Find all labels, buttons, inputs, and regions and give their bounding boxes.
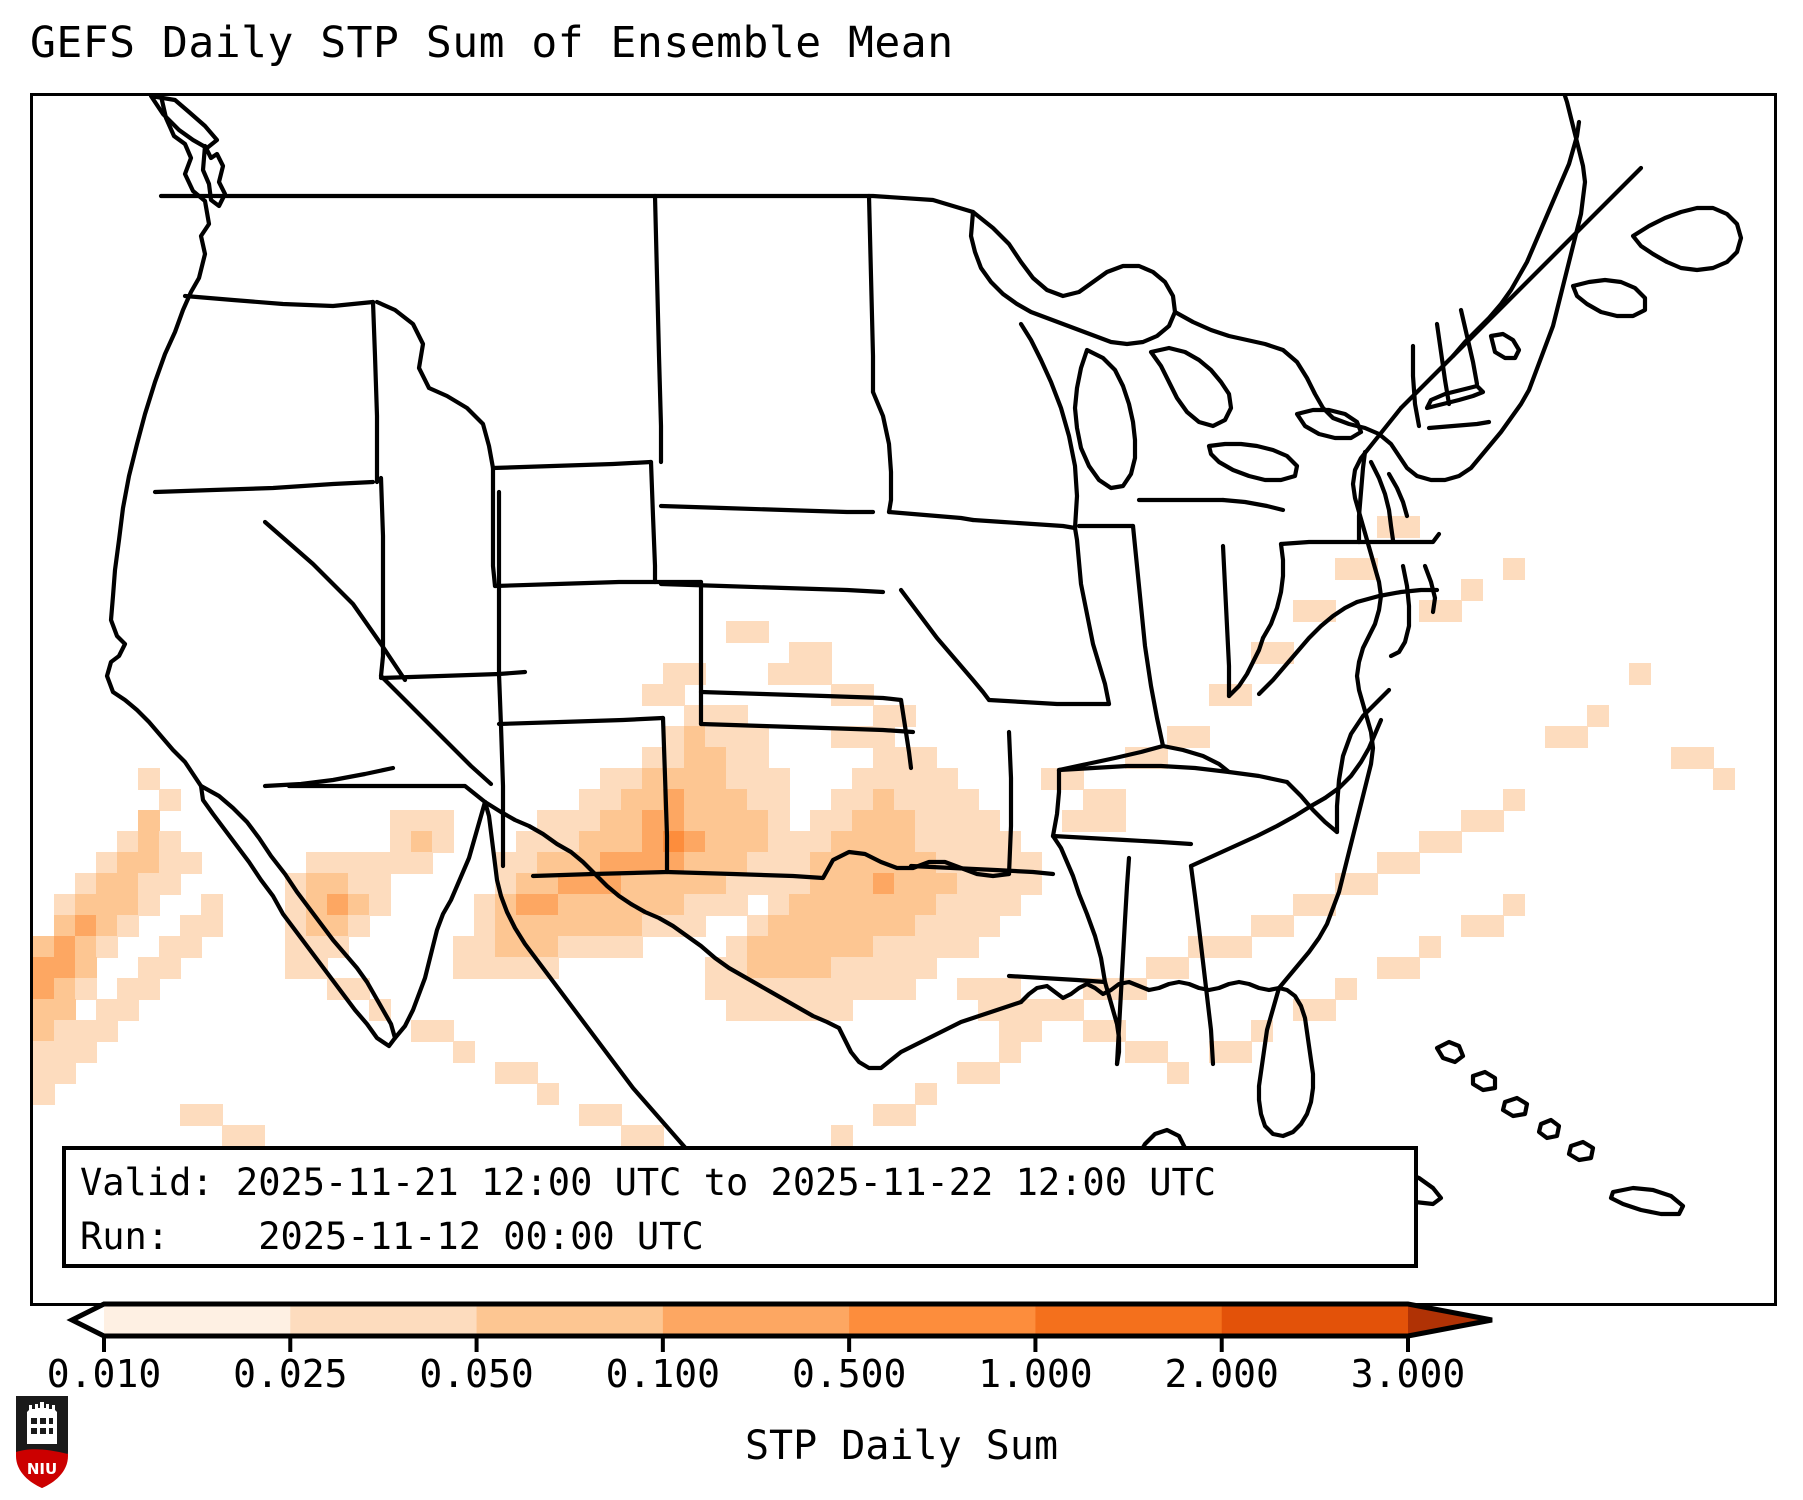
colorbar-segment [663,1304,850,1336]
heatmap-cell [789,978,811,1000]
heatmap-cell [579,936,601,958]
heatmap-cell [495,915,517,937]
heatmap-cell [495,894,517,916]
heatmap-cell [54,1041,76,1063]
heatmap-cell [1209,1041,1231,1063]
heatmap-cell [285,894,307,916]
heatmap-cell [936,789,958,811]
heatmap-cell [579,873,601,895]
heatmap-cell [1146,957,1168,979]
heatmap-cell [768,894,790,916]
colorbar-tick-label: 0.010 [47,1352,161,1396]
heatmap-cell [1671,747,1693,769]
heatmap-cell [894,789,916,811]
heatmap-cell [873,978,895,1000]
heatmap-cell [1482,915,1504,937]
heatmap-cell [1020,852,1042,874]
heatmap-cell [1062,999,1084,1021]
heatmap-cell [705,789,727,811]
heatmap-cell [747,726,769,748]
heatmap-cell [852,894,874,916]
heatmap-cell [1440,831,1462,853]
heatmap-cell [663,768,685,790]
heatmap-cell [54,936,76,958]
colorbar-tick-label: 0.025 [233,1352,347,1396]
heatmap-cell [957,936,979,958]
heatmap-cell [936,768,958,790]
heatmap-cell [33,1062,55,1084]
heatmap-cell [810,894,832,916]
heatmap-cell [957,810,979,832]
heatmap-cell [54,999,76,1021]
heatmap-cell [873,705,895,727]
heatmap-cell [768,663,790,685]
heatmap-cell [873,726,895,748]
heatmap-cell [873,957,895,979]
heatmap-cell [432,831,454,853]
heatmap-cell [768,873,790,895]
stp-heatmap-layer [33,96,1774,1303]
heatmap-cell [873,747,895,769]
heatmap-cell [1083,1020,1105,1042]
heatmap-cell [663,810,685,832]
heatmap-cell [705,978,727,1000]
heatmap-cell [621,810,643,832]
heatmap-cell [852,810,874,832]
heatmap-cell [537,873,559,895]
heatmap-cell [978,831,1000,853]
heatmap-cell [558,915,580,937]
heatmap-cell [537,1083,559,1105]
heatmap-cell [831,852,853,874]
heatmap-cell [516,1062,538,1084]
heatmap-cell [453,1041,475,1063]
heatmap-cell [810,915,832,937]
heatmap-cell [684,831,706,853]
heatmap-cell [663,915,685,937]
heatmap-cell [75,915,97,937]
heatmap-cell [873,831,895,853]
heatmap-cell [705,873,727,895]
heatmap-cell [642,768,664,790]
heatmap-cell [180,915,202,937]
heatmap-cell [1062,810,1084,832]
heatmap-cell [978,852,1000,874]
colorbar-segment [1222,1304,1409,1336]
heatmap-cell [306,873,328,895]
heatmap-cell [621,915,643,937]
heatmap-cell [369,999,391,1021]
heatmap-cell [1167,726,1189,748]
heatmap-cell [117,915,139,937]
heatmap-cell [810,852,832,874]
heatmap-cell [117,978,139,1000]
heatmap-cell [537,810,559,832]
heatmap-cell [894,873,916,895]
heatmap-cell [1398,516,1420,538]
heatmap-cell [684,747,706,769]
heatmap-cell [432,810,454,832]
heatmap-cell [33,1041,55,1063]
heatmap-cell [1167,1062,1189,1084]
heatmap-cell [726,705,748,727]
heatmap-cell [75,873,97,895]
colorbar[interactable] [0,1296,1803,1356]
heatmap-cell [810,936,832,958]
heatmap-cell [768,957,790,979]
heatmap-cell [852,684,874,706]
heatmap-cell [159,831,181,853]
heatmap-cell [306,936,328,958]
colorbar-tick-label: 1.000 [978,1352,1092,1396]
heatmap-cell [810,810,832,832]
heatmap-cell [1104,1020,1126,1042]
heatmap-cell [747,621,769,643]
heatmap-cell [579,810,601,832]
heatmap-cell [495,1062,517,1084]
heatmap-cell [642,873,664,895]
heatmap-cell [726,726,748,748]
heatmap-cell [1545,726,1567,748]
heatmap-cell [1314,999,1336,1021]
heatmap-cell [768,999,790,1021]
heatmap-cell [978,1062,1000,1084]
heatmap-cell [915,747,937,769]
heatmap-cell [1188,726,1210,748]
heatmap-cell [1377,516,1399,538]
heatmap-cell [1020,1020,1042,1042]
heatmap-cell [453,957,475,979]
heatmap-cell [600,936,622,958]
heatmap-cell [999,978,1021,1000]
heatmap-cell [75,936,97,958]
heatmap-cell [726,768,748,790]
heatmap-cell [726,789,748,811]
heatmap-cell [852,768,874,790]
heatmap-cell [999,894,1021,916]
heatmap-cell [684,873,706,895]
heatmap-cell [915,768,937,790]
run-time-text: Run: 2025-11-12 00:00 UTC [80,1210,1400,1264]
annotation-box: Valid: 2025-11-21 12:00 UTC to 2025-11-2… [62,1146,1418,1268]
heatmap-cell [789,936,811,958]
heatmap-cell [915,915,937,937]
heatmap-cell [684,810,706,832]
heatmap-cell [348,978,370,1000]
heatmap-cell [600,831,622,853]
heatmap-cell [873,789,895,811]
heatmap-cell [642,684,664,706]
heatmap-cell [663,831,685,853]
heatmap-cell [894,768,916,790]
heatmap-cell [894,936,916,958]
heatmap-cell [621,894,643,916]
heatmap-cell [873,936,895,958]
logo-text: NIU [27,1460,57,1478]
heatmap-cell [159,957,181,979]
heatmap-cell [558,831,580,853]
heatmap-cell [579,789,601,811]
heatmap-cell [1356,558,1378,580]
heatmap-cell [747,789,769,811]
heatmap-cell [768,852,790,874]
heatmap-cell [1041,999,1063,1021]
heatmap-cell [831,873,853,895]
heatmap-cell [1020,873,1042,895]
colorbar-tick-label: 0.050 [419,1352,533,1396]
heatmap-cell [558,873,580,895]
heatmap-cell [789,999,811,1021]
heatmap-cell [747,810,769,832]
heatmap-cell [726,747,748,769]
map-clip [33,96,1774,1303]
heatmap-cell [936,873,958,895]
heatmap-cell [894,1104,916,1126]
heatmap-cell [684,789,706,811]
heatmap-cell [1566,726,1588,748]
heatmap-cell [348,894,370,916]
heatmap-cell [873,915,895,937]
heatmap-cell [159,852,181,874]
heatmap-cell [1293,999,1315,1021]
heatmap-cell [600,873,622,895]
heatmap-cell [96,999,118,1021]
heatmap-cell [75,894,97,916]
heatmap-cell [138,810,160,832]
heatmap-cell [537,936,559,958]
heatmap-cell [789,852,811,874]
heatmap-cell [768,978,790,1000]
heatmap-cell [894,978,916,1000]
heatmap-cell [201,894,223,916]
heatmap-cell [621,1125,643,1147]
heatmap-cell [705,831,727,853]
heatmap-cell [621,936,643,958]
heatmap-cell [705,957,727,979]
heatmap-cell [96,936,118,958]
heatmap-cell [726,957,748,979]
heatmap-cell [33,999,55,1021]
heatmap-cell [768,789,790,811]
heatmap-cell [852,957,874,979]
heatmap-cell [642,1125,664,1147]
heatmap-cell [138,852,160,874]
heatmap-cell [789,957,811,979]
heatmap-cell [537,957,559,979]
colorbar-segment [104,1304,291,1336]
map-panel[interactable] [30,93,1777,1306]
heatmap-cell [75,957,97,979]
heatmap-cell [537,915,559,937]
heatmap-cell [831,1125,853,1147]
heatmap-cell [327,852,349,874]
heatmap-cell [705,894,727,916]
heatmap-cell [516,936,538,958]
heatmap-cell [1629,663,1651,685]
heatmap-cell [873,1104,895,1126]
heatmap-cell [642,810,664,832]
heatmap-cell [1335,558,1357,580]
heatmap-cell [285,873,307,895]
heatmap-cell [831,831,853,853]
heatmap-cell [75,1041,97,1063]
heatmap-cell [222,1125,244,1147]
heatmap-cell [1503,558,1525,580]
heatmap-cell [411,810,433,832]
heatmap-cell [1251,1020,1273,1042]
heatmap-cell [243,1125,265,1147]
heatmap-cell [852,936,874,958]
heatmap-cell [537,852,559,874]
heatmap-cell [1272,642,1294,664]
heatmap-cell [1230,936,1252,958]
heatmap-cell [642,747,664,769]
heatmap-cell [810,663,832,685]
heatmap-cell [1104,789,1126,811]
heatmap-cell [915,831,937,853]
heatmap-cell [894,831,916,853]
heatmap-cell [201,1104,223,1126]
heatmap-cell [285,957,307,979]
heatmap-cell [852,852,874,874]
heatmap-cell [663,663,685,685]
heatmap-cell [705,747,727,769]
heatmap-cell [327,936,349,958]
heatmap-cell [1251,915,1273,937]
colorbar-segment [1035,1304,1222,1336]
heatmap-cell [1587,705,1609,727]
heatmap-cell [894,705,916,727]
heatmap-cell [747,768,769,790]
heatmap-cell [726,621,748,643]
heatmap-cell [579,852,601,874]
heatmap-cell [138,831,160,853]
heatmap-cell [747,873,769,895]
heatmap-cell [1356,873,1378,895]
heatmap-cell [894,747,916,769]
heatmap-cell [474,936,496,958]
heatmap-cell [789,915,811,937]
valid-time-text: Valid: 2025-11-21 12:00 UTC to 2025-11-2… [80,1156,1400,1210]
heatmap-cell [978,999,1000,1021]
heatmap-cell [54,915,76,937]
heatmap-cell [1398,957,1420,979]
heatmap-cell [558,810,580,832]
heatmap-cell [684,768,706,790]
heatmap-cell [1188,936,1210,958]
heatmap-cell [726,810,748,832]
heatmap-cell [138,768,160,790]
heatmap-cell [831,978,853,1000]
heatmap-cell [747,831,769,853]
heatmap-cell [936,831,958,853]
heatmap-cell [1083,810,1105,832]
heatmap-cell [516,894,538,916]
heatmap-cell [684,894,706,916]
heatmap-cell [1230,1041,1252,1063]
heatmap-cell [726,894,748,916]
heatmap-cell [390,852,412,874]
heatmap-cell [831,789,853,811]
heatmap-cell [348,873,370,895]
heatmap-cell [915,1083,937,1105]
heatmap-cell [1083,789,1105,811]
heatmap-cell [390,831,412,853]
heatmap-cell [117,894,139,916]
heatmap-cell [1146,747,1168,769]
heatmap-cell [894,852,916,874]
heatmap-cell [117,831,139,853]
heatmap-cell [1503,789,1525,811]
heatmap-cell [915,894,937,916]
heatmap-cell [159,873,181,895]
heatmap-cell [831,936,853,958]
heatmap-cell [1482,810,1504,832]
colorbar-segments [72,1304,1492,1336]
heatmap-cell [180,936,202,958]
heatmap-cell [495,936,517,958]
heatmap-cell [96,1020,118,1042]
heatmap-cell [516,957,538,979]
heatmap-cell [54,978,76,1000]
heatmap-cell [516,873,538,895]
heatmap-cell [201,915,223,937]
heatmap-cell [831,999,853,1021]
heatmap-cell [33,957,55,979]
colorbar-tick-label: 0.500 [792,1352,906,1396]
heatmap-cell [747,936,769,958]
heatmap-cell [768,936,790,958]
heatmap-cell [642,894,664,916]
heatmap-cell [726,831,748,853]
colorbar-tick-label: 2.000 [1165,1352,1279,1396]
heatmap-cell [96,873,118,895]
heatmap-cell [117,873,139,895]
heatmap-cell [1062,768,1084,790]
heatmap-cell [1251,642,1273,664]
heatmap-cell [1419,936,1441,958]
heatmap-cell [726,936,748,958]
heatmap-cell [306,915,328,937]
heatmap-cell [936,915,958,937]
heatmap-cell [306,957,328,979]
heatmap-cell [537,831,559,853]
heatmap-cell [117,999,139,1021]
heatmap-cell [516,915,538,937]
heatmap-cell [663,873,685,895]
heatmap-cell [915,936,937,958]
heatmap-cell [411,1020,433,1042]
heatmap-cell [894,810,916,832]
heatmap-cell [1503,894,1525,916]
heatmap-cell [1125,747,1147,769]
heatmap-cell [726,852,748,874]
colorbar-svg[interactable] [0,1296,1803,1356]
heatmap-cell [474,894,496,916]
heatmap-cell [957,978,979,1000]
heatmap-cell [558,852,580,874]
heatmap-cell [54,1062,76,1084]
heatmap-cell [159,789,181,811]
heatmap-cell [1419,831,1441,853]
heatmap-cell [831,894,853,916]
heatmap-cell [1230,684,1252,706]
heatmap-cell [831,915,853,937]
heatmap-cell [1020,999,1042,1021]
heatmap-cell [768,831,790,853]
colorbar-segment [290,1304,477,1336]
heatmap-cell [978,894,1000,916]
